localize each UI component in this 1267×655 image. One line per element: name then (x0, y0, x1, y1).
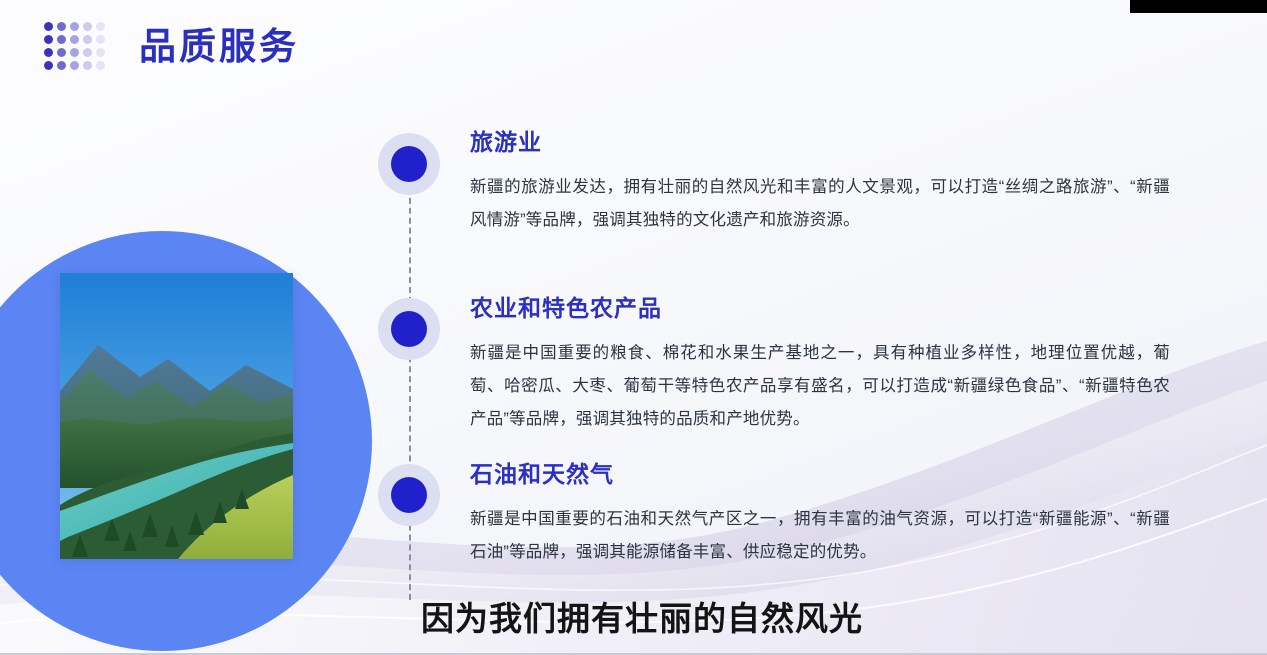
timeline-bullet-icon (378, 464, 440, 526)
bottom-caption: 因为我们拥有壮丽的自然风光 (421, 592, 863, 640)
timeline-body: 新疆是中国重要的石油和天然气产区之一，拥有丰富的油气资源，可以打造“新疆能源”、… (470, 503, 1170, 569)
timeline-heading: 旅游业 (470, 130, 1170, 155)
timeline-body: 新疆的旅游业发达，拥有壮丽的自然风光和丰富的人文景观，可以打造“丝绸之路旅游”、… (470, 171, 1170, 237)
timeline-body: 新疆是中国重要的粮食、棉花和水果生产基地之一，具有种植业多样性，地理位置优越，葡… (470, 337, 1170, 436)
timeline-bullet-icon (378, 298, 440, 360)
timeline-heading: 石油和天然气 (470, 462, 1170, 487)
timeline: 旅游业 新疆的旅游业发达，拥有壮丽的自然风光和丰富的人文景观，可以打造“丝绸之路… (0, 0, 1267, 655)
timeline-dashed-connector (409, 188, 411, 600)
top-right-black-overlay (1130, 0, 1267, 13)
timeline-bullet-icon (378, 133, 440, 195)
slide-canvas: 品质服务 (0, 0, 1267, 655)
timeline-heading: 农业和特色农产品 (470, 296, 1170, 321)
timeline-item-text: 旅游业 新疆的旅游业发达，拥有壮丽的自然风光和丰富的人文景观，可以打造“丝绸之路… (470, 130, 1170, 237)
timeline-item-text: 石油和天然气 新疆是中国重要的石油和天然气产区之一，拥有丰富的油气资源，可以打造… (470, 462, 1170, 569)
timeline-item-text: 农业和特色农产品 新疆是中国重要的粮食、棉花和水果生产基地之一，具有种植业多样性… (470, 296, 1170, 436)
